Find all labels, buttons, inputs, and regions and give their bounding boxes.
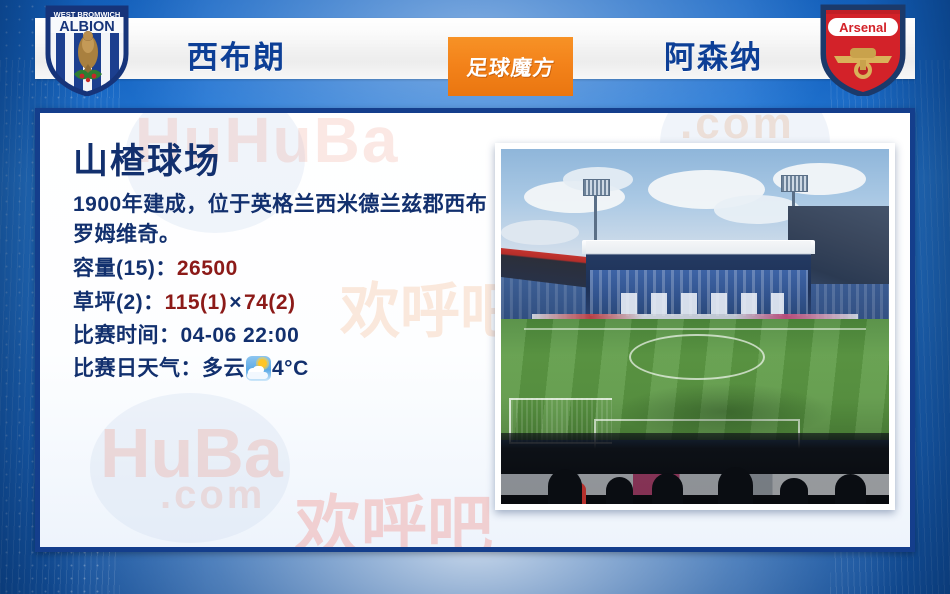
match-temperature-value: 4°C [272, 357, 309, 380]
partly-cloudy-icon [246, 356, 271, 381]
match-time-label: 比赛时间： [73, 324, 181, 347]
stadium-info-text: 山楂球场 1900年建成，位于英格兰西米德兰兹郡西布罗姆维奇。 容量(15)：2… [73, 143, 493, 385]
match-weather-label: 比赛日天气： [73, 357, 202, 380]
arsenal-crest-icon: Arsenal [820, 4, 906, 96]
match-weather-row: 比赛日天气：多云4°C [73, 352, 493, 385]
stadium-info-panel: HuHuBa Huan HuBa 欢呼吧 欢呼吧 .com .com 山楂球场 … [35, 108, 915, 552]
home-team-name: 西布朗 [187, 32, 286, 77]
photo-foreground-crowd [501, 433, 889, 504]
stadium-info-card: 西布朗 阿森纳 足球魔方 [0, 0, 950, 594]
pitch-size-separator: × [227, 291, 244, 314]
pitch-width-value: 74(2) [244, 291, 296, 314]
match-time-row: 比赛时间：04-06 22:00 [73, 319, 493, 352]
pitch-length-value: 115(1) [165, 291, 228, 314]
capacity-row: 容量(15)：26500 [73, 252, 493, 285]
match-time-value: 04-06 22:00 [181, 324, 300, 347]
match-weather-value: 多云 [202, 357, 245, 380]
pitch-size-row: 草坪(2)：115(1)×74(2) [73, 286, 493, 319]
arsenal-wordmark: Arsenal [839, 20, 887, 35]
west-bromwich-albion-crest-icon: WEST BROMWICH ALBION [44, 4, 130, 96]
capacity-label: 容量(15)： [73, 257, 177, 280]
watermark-cloud [90, 393, 290, 543]
stadium-photo [501, 149, 889, 504]
stadium-title: 山楂球场 [73, 143, 493, 182]
match-header-bar: 西布朗 阿森纳 足球魔方 [35, 18, 915, 79]
stadium-photo-frame [495, 143, 895, 510]
photo-seat-lettering [621, 293, 784, 314]
crest-line2: ALBION [59, 19, 115, 35]
site-brand-logo[interactable]: 足球魔方 [448, 37, 573, 96]
away-team-name: 阿森纳 [664, 32, 763, 77]
capacity-value: 26500 [177, 257, 238, 280]
crest-line1: WEST BROMWICH [54, 10, 121, 19]
stadium-description: 1900年建成，位于英格兰西米德兰兹郡西布罗姆维奇。 [73, 190, 493, 251]
watermark-text: 欢呼吧 [295, 473, 493, 552]
site-brand-label: 足球魔方 [465, 52, 556, 82]
pitch-size-label: 草坪(2)： [73, 291, 165, 314]
